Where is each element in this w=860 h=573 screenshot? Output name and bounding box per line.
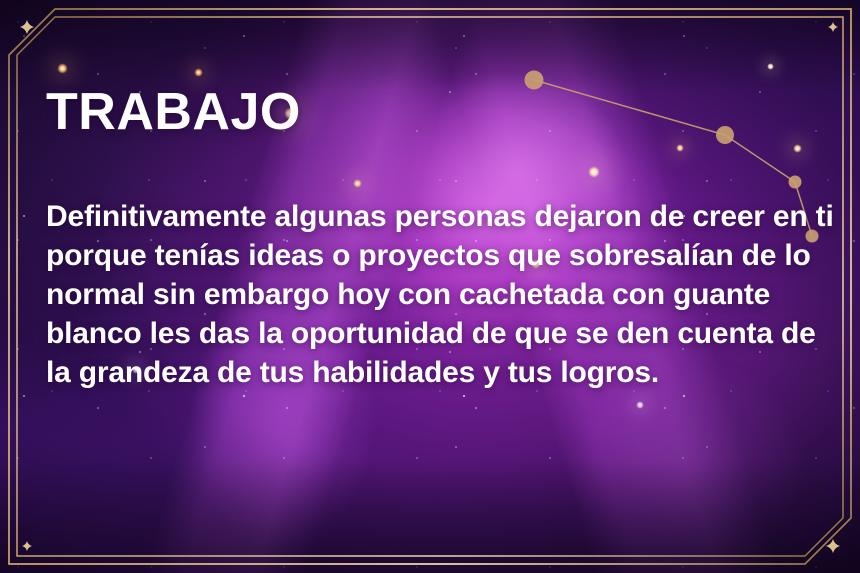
text-content-block: TRABAJO Definitivamente algunas personas… <box>46 86 836 392</box>
corner-sparkle-icon <box>826 539 840 553</box>
glow-star <box>194 68 203 77</box>
page-title: TRABAJO <box>46 86 836 139</box>
corner-sparkle-icon <box>828 22 838 32</box>
horoscope-body-text: Definitivamente algunas personas dejaron… <box>46 139 836 392</box>
glow-star <box>767 63 774 70</box>
glow-star <box>636 401 644 409</box>
corner-sparkle-icon <box>20 20 34 34</box>
glow-star <box>57 63 68 74</box>
corner-sparkle-icon <box>22 541 32 551</box>
horoscope-card: TRABAJO Definitivamente algunas personas… <box>0 0 860 573</box>
